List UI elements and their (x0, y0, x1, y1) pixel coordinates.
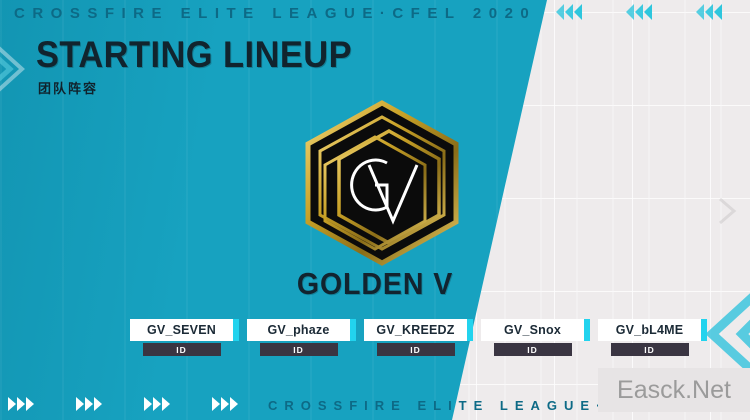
small-chevron-icon (716, 196, 742, 226)
list-item[interactable]: GV_phaze ID (247, 319, 350, 356)
top-banner: CROSSFIRE ELITE LEAGUE·CFEL 2020 (0, 0, 750, 28)
list-item[interactable]: GV_KREEDZ ID (364, 319, 467, 356)
player-name-label: GV_phaze (267, 323, 329, 337)
team-name-text: GOLDEN V (297, 266, 453, 302)
player-name-label: GV_KREEDZ (376, 323, 454, 337)
status-badge: ID (494, 343, 572, 356)
chevron-left-triple-icon (626, 4, 652, 20)
chevron-left-triple-icon (556, 4, 582, 20)
top-banner-chevrons (556, 4, 750, 20)
status-badge: ID (143, 343, 221, 356)
team-name: GOLDEN V (30, 266, 720, 302)
left-edge-chevron-icon (0, 36, 38, 102)
status-badge: ID (611, 343, 689, 356)
status-badge: ID (377, 343, 455, 356)
page-subtitle: 团队阵容 (38, 78, 98, 97)
watermark: Easck.Net (598, 368, 750, 412)
bottom-banner-arrows (8, 397, 238, 411)
player-accent-bar (233, 319, 239, 341)
league-title-top: CROSSFIRE ELITE LEAGUE·CFEL 2020 (14, 5, 536, 22)
player-list: GV_SEVEN ID GV_phaze ID GV_KREEDZ ID (130, 319, 701, 356)
league-title-bottom: CROSSFIRE ELITE LEAGUE· (268, 398, 607, 413)
list-item[interactable]: GV_Snox ID (481, 319, 584, 356)
player-name-box[interactable]: GV_Snox (481, 319, 584, 341)
player-id-label: ID (176, 345, 187, 355)
status-badge: ID (260, 343, 338, 356)
player-name-box[interactable]: GV_SEVEN (130, 319, 233, 341)
page-title: STARTING LINEUP (36, 34, 352, 76)
list-item[interactable]: GV_bL4ME ID (598, 319, 701, 356)
list-item[interactable]: GV_SEVEN ID (130, 319, 233, 356)
player-id-label: ID (293, 345, 304, 355)
player-accent-bar (584, 319, 590, 341)
player-name-box[interactable]: GV_phaze (247, 319, 350, 341)
player-name-label: GV_Snox (504, 323, 561, 337)
broadcast-graphic-stage: CROSSFIRE ELITE LEAGUE·CFEL 2020 STARTIN… (0, 0, 750, 420)
chevron-right-triple-icon (144, 397, 170, 411)
player-id-label: ID (644, 345, 655, 355)
hexagon-logo-icon (297, 97, 467, 269)
chevron-right-triple-icon (212, 397, 238, 411)
player-name-label: GV_SEVEN (147, 323, 216, 337)
team-logo (297, 97, 467, 269)
player-id-label: ID (410, 345, 421, 355)
player-id-label: ID (527, 345, 538, 355)
chevron-left-triple-icon (696, 4, 722, 20)
player-accent-bar (467, 319, 473, 341)
player-name-label: GV_bL4ME (616, 323, 684, 337)
chevron-right-triple-icon (8, 397, 34, 411)
player-accent-bar (701, 319, 707, 341)
player-accent-bar (350, 319, 356, 341)
player-name-box[interactable]: GV_bL4ME (598, 319, 701, 341)
chevron-right-triple-icon (76, 397, 102, 411)
player-name-box[interactable]: GV_KREEDZ (364, 319, 467, 341)
watermark-text: Easck.Net (617, 376, 731, 405)
